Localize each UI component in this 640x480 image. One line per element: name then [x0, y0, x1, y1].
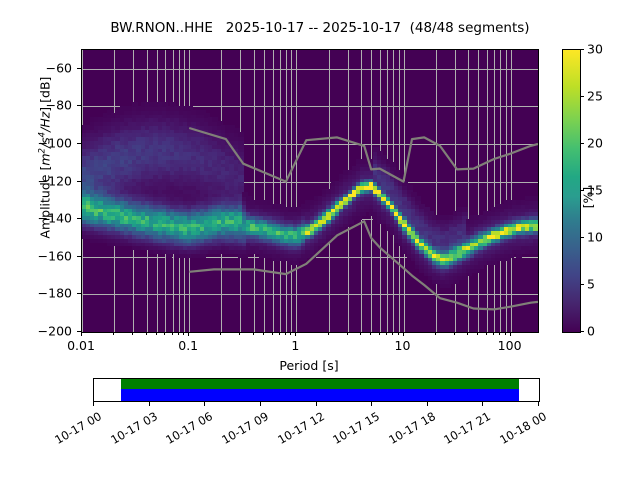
- x-tick-mark-major: [403, 332, 404, 336]
- nhnm-curve: [189, 128, 538, 182]
- x-tick-mark-minor: [379, 332, 380, 335]
- x-tick-mark-minor: [239, 332, 240, 335]
- timeline-tick-label: 10-17 09: [208, 409, 270, 453]
- x-tick-mark-minor: [263, 332, 264, 335]
- x-tick-label: 0.1: [178, 338, 198, 353]
- x-tick-mark-minor: [290, 332, 291, 335]
- x-tick-mark-minor: [360, 332, 361, 335]
- colorbar[interactable]: [562, 49, 581, 333]
- colorbar-tick-label: 5: [587, 277, 595, 292]
- timeline-tick-mark: [93, 401, 94, 406]
- x-tick-label: 10: [395, 338, 411, 353]
- y-tick-mark: [77, 293, 81, 294]
- x-tick-label: 100: [498, 338, 522, 353]
- x-tick-mark-minor: [499, 332, 500, 335]
- timeline-tick-label: 10-17 18: [375, 409, 437, 453]
- timeline-tick-label: 10-17 15: [320, 409, 382, 453]
- timeline-tick-mark: [149, 401, 150, 406]
- x-tick-mark-minor: [505, 332, 506, 335]
- colorbar-tick-label: 10: [587, 230, 603, 245]
- timeline-tick-mark: [316, 401, 317, 406]
- timeline-tick-mark: [482, 401, 483, 406]
- colorbar-tick-mark: [580, 143, 584, 144]
- colorbar-tick-label: 25: [587, 89, 603, 104]
- x-tick-mark-minor: [435, 332, 436, 335]
- colorbar-label: [%]: [581, 168, 596, 228]
- x-tick-mark-minor: [132, 332, 133, 335]
- colorbar-tick-mark: [580, 49, 584, 50]
- timeline-tick-mark: [427, 401, 428, 406]
- x-tick-mark-major: [510, 332, 511, 336]
- x-tick-mark-minor: [386, 332, 387, 335]
- page-title: BW.RNON..HHE 2025-10-17 -- 2025-10-17 (4…: [0, 20, 640, 36]
- x-tick-mark-minor: [178, 332, 179, 335]
- colorbar-tick-mark: [580, 284, 584, 285]
- x-tick-mark-minor: [164, 332, 165, 335]
- colorbar-tick-mark: [580, 237, 584, 238]
- data-coverage-timeline[interactable]: [93, 378, 540, 402]
- timeline-tick-label: 10-17 12: [264, 409, 326, 453]
- x-tick-mark-minor: [493, 332, 494, 335]
- ppsd-plot-area[interactable]: [81, 49, 539, 333]
- y-tick-label: −200: [38, 324, 72, 339]
- x-tick-mark-minor: [328, 332, 329, 335]
- x-tick-mark-major: [188, 332, 189, 336]
- y-tick-mark: [77, 143, 81, 144]
- nlnm-curve: [189, 221, 538, 309]
- x-tick-mark-minor: [253, 332, 254, 335]
- x-tick-mark-minor: [220, 332, 221, 335]
- timeline-tick-label: 10-17 00: [42, 409, 104, 453]
- timeline-tick-label: 10-17 03: [97, 409, 159, 453]
- x-tick-mark-major: [81, 332, 82, 336]
- x-tick-label: 1: [291, 338, 299, 353]
- x-tick-mark-minor: [113, 332, 114, 335]
- x-tick-mark-minor: [392, 332, 393, 335]
- y-axis-label-slash-s: /s: [38, 137, 53, 148]
- timeline-tick-mark: [538, 401, 539, 406]
- coverage-bar-blue: [121, 389, 519, 401]
- colorbar-tick-label: 30: [587, 42, 603, 57]
- gridline-horizontal: [82, 332, 538, 333]
- timeline-tick-label: 10-17 21: [431, 409, 493, 453]
- y-tick-mark: [77, 256, 81, 257]
- x-tick-mark-minor: [156, 332, 157, 335]
- x-tick-mark-minor: [347, 332, 348, 335]
- x-tick-mark-minor: [146, 332, 147, 335]
- timeline-tick-mark: [204, 401, 205, 406]
- colorbar-tick-label: 20: [587, 136, 603, 151]
- y-tick-mark: [77, 105, 81, 106]
- x-tick-mark-minor: [172, 332, 173, 335]
- y-axis-label-sup4: 4: [37, 132, 47, 137]
- y-axis-label: Amplitude [m2/s4/Hz] [dB]: [37, 8, 52, 308]
- x-tick-mark-minor: [370, 332, 371, 335]
- y-axis-label-suffix: ] [dB]: [38, 77, 53, 112]
- ppsd-figure: BW.RNON..HHE 2025-10-17 -- 2025-10-17 (4…: [0, 0, 640, 480]
- colorbar-tick-label: 0: [587, 324, 595, 339]
- colorbar-tick-mark: [580, 331, 584, 332]
- x-tick-mark-major: [295, 332, 296, 336]
- x-tick-mark-minor: [454, 332, 455, 335]
- timeline-tick-label: 10-18 00: [487, 409, 549, 453]
- x-tick-mark-minor: [486, 332, 487, 335]
- y-axis-label-sup2: 2: [37, 148, 47, 153]
- x-tick-mark-minor: [398, 332, 399, 335]
- y-axis-label-hz: /Hz: [38, 112, 53, 132]
- x-tick-label: 0.01: [67, 338, 95, 353]
- timeline-tick-mark: [260, 401, 261, 406]
- colorbar-tick-mark: [580, 96, 584, 97]
- x-tick-mark-minor: [279, 332, 280, 335]
- y-tick-mark: [77, 218, 81, 219]
- y-axis-label-prefix: Amplitude [: [38, 166, 53, 239]
- x-tick-mark-minor: [272, 332, 273, 335]
- noise-model-curves: [82, 50, 538, 332]
- x-axis-label: Period [s]: [81, 358, 537, 373]
- x-tick-mark-minor: [467, 332, 468, 335]
- x-tick-mark-minor: [285, 332, 286, 335]
- y-tick-mark: [77, 181, 81, 182]
- x-tick-mark-minor: [183, 332, 184, 335]
- timeline-tick-label: 10-17 06: [153, 409, 215, 453]
- y-tick-mark: [77, 68, 81, 69]
- y-axis-label-m: m: [38, 153, 53, 165]
- coverage-bar-green: [121, 379, 519, 389]
- x-tick-mark-minor: [477, 332, 478, 335]
- timeline-tick-mark: [371, 401, 372, 406]
